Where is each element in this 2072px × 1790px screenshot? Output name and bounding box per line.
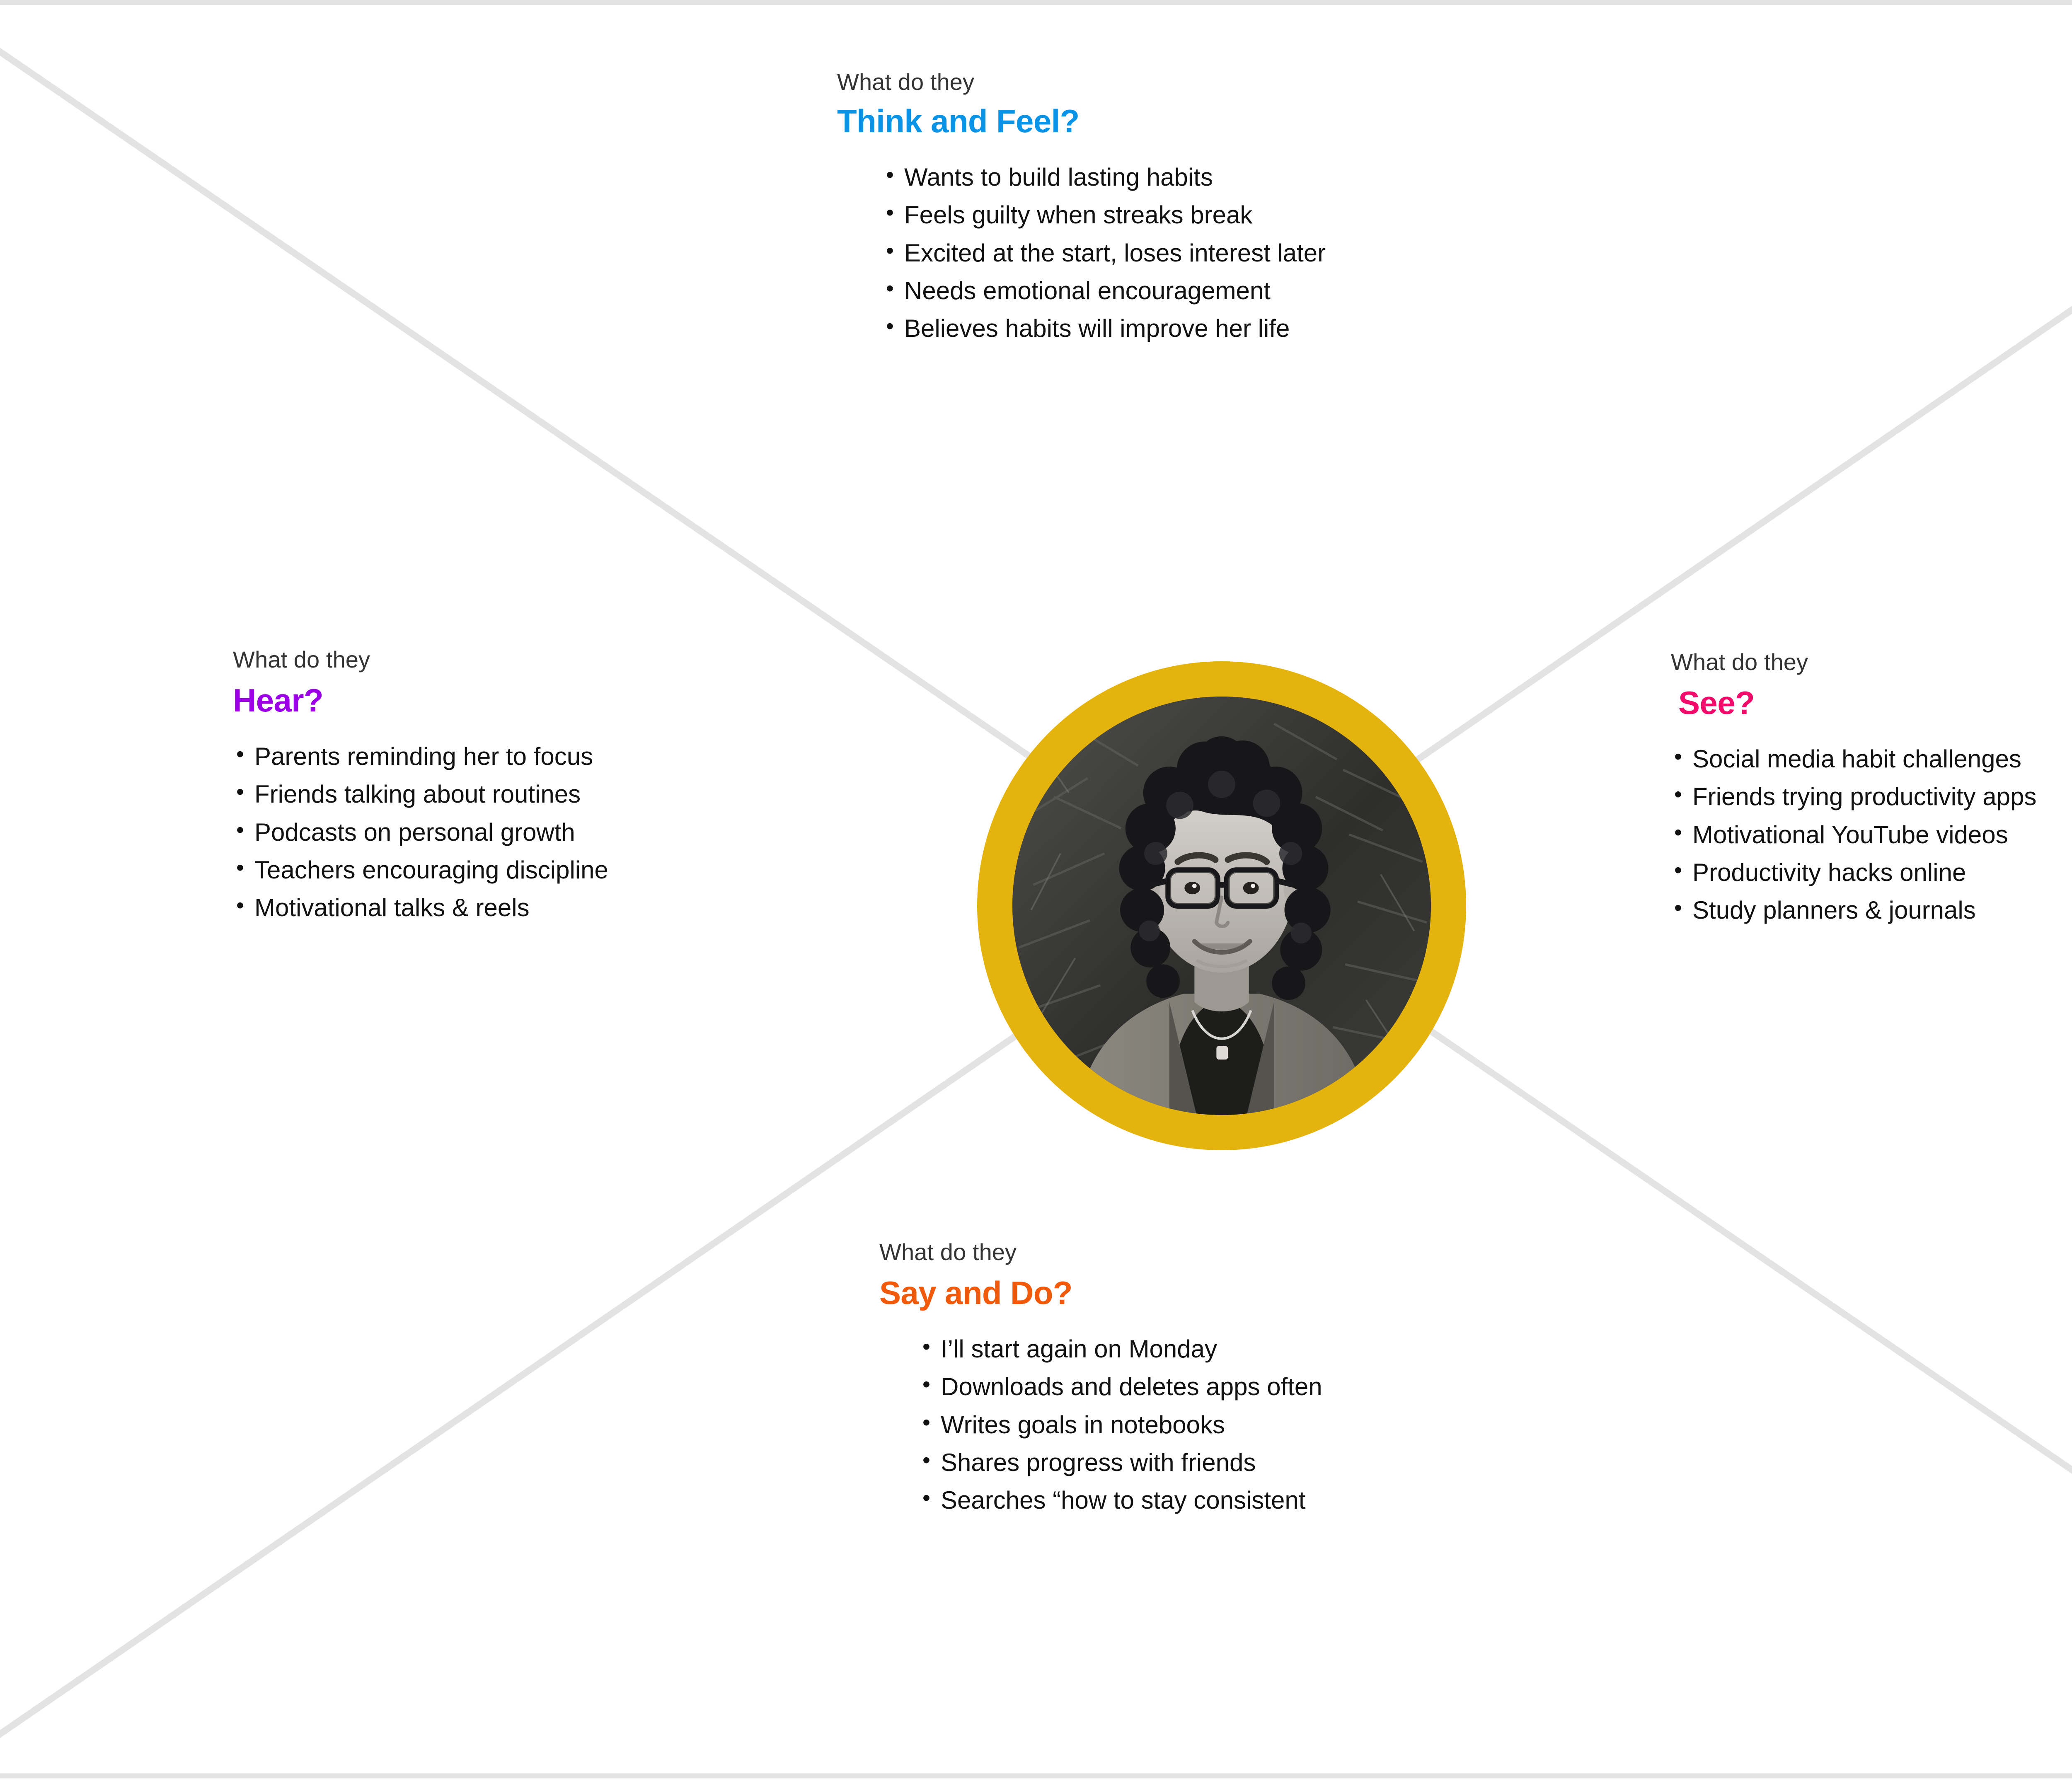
avatar	[1012, 697, 1431, 1115]
list-item: Feels guilty when streaks break	[883, 196, 1326, 234]
avatar-ring	[977, 661, 1466, 1150]
list-item: Friends talking about routines	[233, 775, 608, 813]
quadrant-say-and-do: What do they Say and Do? I’ll start agai…	[879, 1239, 1322, 1519]
think-and-feel-heading: Think and Feel?	[837, 104, 1326, 138]
say-and-do-bullet-list: I’ll start again on Monday Downloads and…	[919, 1330, 1322, 1519]
list-item: Productivity hacks online	[1671, 854, 2036, 891]
say-and-do-heading: Say and Do?	[879, 1276, 1322, 1310]
list-item: Needs emotional encouragement	[883, 272, 1326, 310]
hear-heading: Hear?	[233, 684, 608, 718]
think-and-feel-bullet-list: Wants to build lasting habits Feels guil…	[883, 158, 1326, 347]
see-heading: See?	[1678, 686, 2036, 720]
think-and-feel-eyebrow: What do they	[837, 69, 1326, 95]
list-item: Motivational YouTube videos	[1671, 816, 2036, 854]
hear-bullet-list: Parents reminding her to focus Friends t…	[233, 738, 608, 926]
list-item: Podcasts on personal growth	[233, 813, 608, 851]
hear-eyebrow: What do they	[233, 646, 608, 673]
say-and-do-eyebrow: What do they	[879, 1239, 1322, 1265]
see-bullet-list: Social media habit challenges Friends tr…	[1671, 740, 2036, 929]
list-item: Friends trying productivity apps	[1671, 778, 2036, 815]
list-item: Wants to build lasting habits	[883, 158, 1326, 196]
quadrant-see: What do they See? Social media habit cha…	[1678, 649, 2036, 929]
list-item: Writes goals in notebooks	[919, 1406, 1322, 1444]
list-item: Searches “how to stay consistent	[919, 1481, 1322, 1519]
list-item: I’ll start again on Monday	[919, 1330, 1322, 1368]
see-eyebrow: What do they	[1671, 649, 2036, 675]
list-item: Excited at the start, loses interest lat…	[883, 234, 1326, 272]
persona-portrait-illustration	[1012, 697, 1431, 1115]
quadrant-hear: What do they Hear? Parents reminding her…	[233, 646, 608, 926]
quadrant-think-and-feel: What do they Think and Feel? Wants to bu…	[837, 69, 1326, 347]
list-item: Teachers encouraging discipline	[233, 851, 608, 889]
list-item: Motivational talks & reels	[233, 889, 608, 926]
list-item: Parents reminding her to focus	[233, 738, 608, 775]
list-item: Believes habits will improve her life	[883, 310, 1326, 347]
list-item: Downloads and deletes apps often	[919, 1368, 1322, 1405]
list-item: Shares progress with friends	[919, 1444, 1322, 1481]
list-item: Social media habit challenges	[1671, 740, 2036, 778]
list-item: Study planners & journals	[1671, 891, 2036, 929]
